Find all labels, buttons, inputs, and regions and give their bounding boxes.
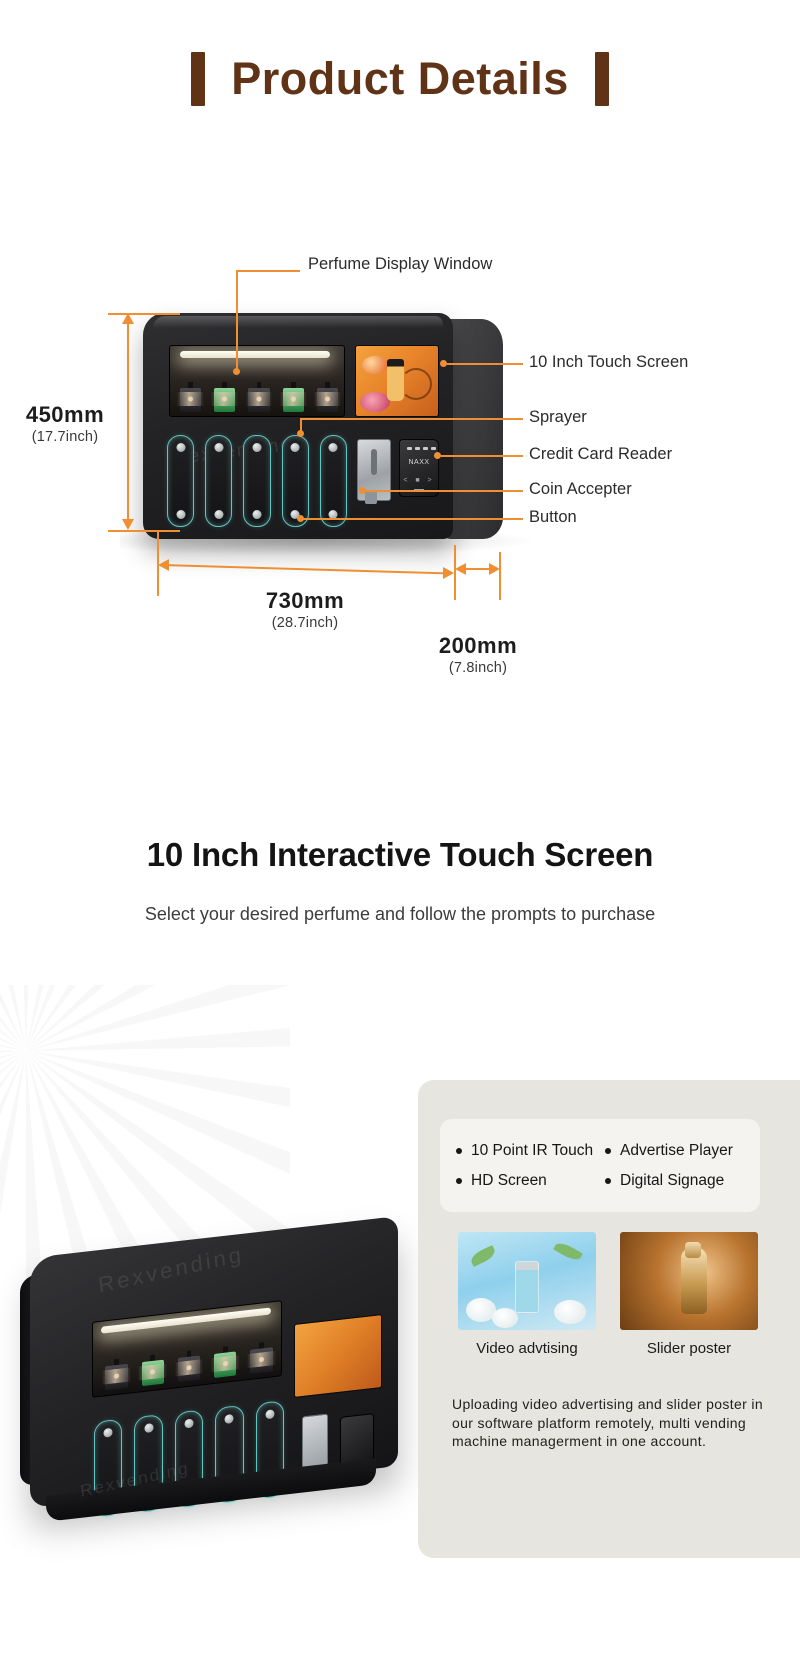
perfume-bottle-row xyxy=(176,370,342,412)
product-details-page: Product Details Rexvending xyxy=(0,0,800,1658)
machine-top-highlight xyxy=(153,316,443,328)
dimension-width: 730mm (28.7inch) xyxy=(205,588,405,631)
perfume-bottle xyxy=(176,382,205,412)
coin-return-tray xyxy=(365,490,377,504)
sprayer-nozzle xyxy=(104,1428,113,1438)
video-advertising-image xyxy=(458,1232,596,1330)
callout-label-touch-screen: 10 Inch Touch Screen xyxy=(529,353,688,372)
screen-art-petal xyxy=(360,392,390,412)
dim-guide-top xyxy=(108,313,180,315)
feature-label: Advertise Player xyxy=(620,1142,733,1160)
callout-dot-card-reader xyxy=(434,452,441,459)
callout-leader-coin-accepter xyxy=(363,490,523,492)
feature-item-digital-signage: Digital Signage xyxy=(605,1172,754,1190)
page-title: Product Details xyxy=(231,53,569,105)
perfume-bottle xyxy=(101,1357,132,1391)
dim-line-height xyxy=(127,316,129,528)
feature-item-ir-touch: 10 Point IR Touch xyxy=(456,1142,605,1160)
feature-item-advertise-player: Advertise Player xyxy=(605,1142,754,1160)
dim-arrow-width-left xyxy=(158,559,169,571)
bullet-icon xyxy=(605,1178,611,1184)
callout-leader-sprayer xyxy=(300,418,523,420)
sprayer-slot-row xyxy=(167,435,347,527)
callout-label-sprayer: Sprayer xyxy=(529,408,587,427)
card-reader-keypad[interactable]: < ■ > xyxy=(400,477,438,484)
sprayer-nozzle xyxy=(265,1409,274,1419)
machine-front-panel: Rexvending xyxy=(143,313,453,539)
dimension-depth-inch: (7.8inch) xyxy=(388,660,568,676)
flower-decoration xyxy=(492,1308,518,1328)
touch-screen-display[interactable] xyxy=(355,345,439,417)
coin-accepter-module[interactable] xyxy=(302,1414,328,1469)
perfume-bottle xyxy=(210,382,239,412)
perfume-bottle-image xyxy=(515,1261,539,1313)
thumbnail-slider-poster: Slider poster xyxy=(620,1232,758,1357)
sprayer-nozzle xyxy=(253,443,262,452)
callout-dot-touch-screen xyxy=(440,360,447,367)
dim-arrow-top xyxy=(122,313,134,324)
sprayer-slot[interactable] xyxy=(205,435,232,527)
thumbnail-caption: Slider poster xyxy=(620,1340,758,1357)
callout-dot-window xyxy=(233,368,240,375)
feature-label: HD Screen xyxy=(471,1172,547,1190)
dimension-height-mm: 450mm xyxy=(10,402,120,428)
leaf-decoration xyxy=(553,1240,583,1264)
section2-subtitle: Select your desired perfume and follow t… xyxy=(140,902,660,928)
panel-description: Uploading video advertising and slider p… xyxy=(452,1395,768,1451)
dim-arrow-bottom xyxy=(122,519,134,530)
leaf-decoration xyxy=(469,1245,498,1267)
callout-label-button: Button xyxy=(529,508,577,527)
callout-leader-window-vertical xyxy=(236,270,238,372)
sprayer-slot[interactable] xyxy=(243,435,270,527)
section2-title: 10 Inch Interactive Touch Screen xyxy=(0,836,800,874)
touch-screen-info-panel: 10 Point IR Touch Advertise Player HD Sc… xyxy=(418,1080,800,1558)
dim-line-width xyxy=(163,564,451,574)
feature-item-hd-screen: HD Screen xyxy=(456,1172,605,1190)
vending-machine-illustration-angled: Rexvending Rexvending xyxy=(20,1215,420,1515)
sprayer-slot[interactable] xyxy=(320,435,347,527)
feature-list: 10 Point IR Touch Advertise Player HD Sc… xyxy=(440,1119,760,1212)
sprayer-slot[interactable] xyxy=(167,435,194,527)
touch-screen-display[interactable] xyxy=(294,1314,382,1398)
card-reader-leds xyxy=(407,447,436,450)
feature-label: 10 Point IR Touch xyxy=(471,1142,593,1160)
sprayer-nozzle xyxy=(176,443,185,452)
sprayer-nozzle xyxy=(329,443,338,452)
thumbnail-row: Video advtising Slider poster xyxy=(458,1232,758,1357)
perfume-bottle xyxy=(173,1349,204,1383)
slot-button[interactable] xyxy=(214,510,223,519)
coin-slot xyxy=(371,449,377,475)
sprayer-nozzle xyxy=(144,1423,153,1433)
dimension-depth: 200mm (7.8inch) xyxy=(388,633,568,676)
display-light-strip xyxy=(180,351,330,358)
perfume-bottle xyxy=(246,1341,277,1375)
perfume-bottle xyxy=(313,382,342,412)
vending-machine-illustration: Rexvending xyxy=(143,313,503,543)
card-reader-brand: NAXX xyxy=(400,459,438,466)
dimension-width-inch: (28.7inch) xyxy=(205,615,405,631)
dim-arrow-width-right xyxy=(443,567,454,579)
bullet-icon xyxy=(456,1148,462,1154)
slider-poster-image xyxy=(620,1232,758,1330)
perfume-display-window xyxy=(169,345,345,417)
perfume-bottle xyxy=(279,382,308,412)
dim-guide-bottom xyxy=(108,530,180,532)
section-title-row: Product Details xyxy=(0,52,800,106)
bullet-icon xyxy=(605,1148,611,1154)
slot-button[interactable] xyxy=(176,510,185,519)
callout-label-perfume-display-window: Perfume Display Window xyxy=(308,255,492,274)
callout-label-credit-card-reader: Credit Card Reader xyxy=(529,445,672,464)
dimension-depth-mm: 200mm xyxy=(388,633,568,659)
perfume-bottle xyxy=(244,382,273,412)
flower-decoration xyxy=(554,1300,586,1324)
dimension-height: 450mm (17.7inch) xyxy=(10,402,120,445)
title-bar-left xyxy=(191,52,205,106)
screen-art-swirl xyxy=(400,368,432,400)
dimension-width-mm: 730mm xyxy=(205,588,405,614)
thumbnail-video-advertising: Video advtising xyxy=(458,1232,596,1357)
perfume-bottle xyxy=(137,1353,168,1387)
slot-button[interactable] xyxy=(253,510,262,519)
dim-arrow-depth-right xyxy=(489,563,500,575)
sprayer-nozzle xyxy=(185,1418,194,1428)
callout-leader-button xyxy=(301,518,523,520)
credit-card-reader-module[interactable]: NAXX < ■ > xyxy=(399,439,439,497)
perfume-bottle xyxy=(210,1345,241,1379)
callout-leader-touch-screen xyxy=(447,363,523,365)
sprayer-nozzle xyxy=(214,443,223,452)
sprayer-nozzle xyxy=(291,443,300,452)
thumbnail-caption: Video advtising xyxy=(458,1340,596,1357)
bottle-cap-decoration xyxy=(685,1242,701,1258)
bullet-icon xyxy=(456,1178,462,1184)
dim-extension-right xyxy=(499,552,501,600)
callout-leader-sprayer-vertical xyxy=(300,418,302,434)
title-bar-right xyxy=(595,52,609,106)
sprayer-nozzle xyxy=(225,1414,234,1424)
product-diagram: Rexvending xyxy=(0,230,800,700)
callout-label-coin-accepter: Coin Accepter xyxy=(529,480,632,499)
screen-art-petal xyxy=(362,356,388,374)
dimension-height-inch: (17.7inch) xyxy=(10,429,120,445)
sprayer-slot[interactable] xyxy=(282,435,309,527)
dim-arrow-depth-left xyxy=(455,563,466,575)
callout-leader-window-horizontal xyxy=(236,270,300,272)
feature-label: Digital Signage xyxy=(620,1172,724,1190)
callout-leader-card-reader xyxy=(441,455,523,457)
